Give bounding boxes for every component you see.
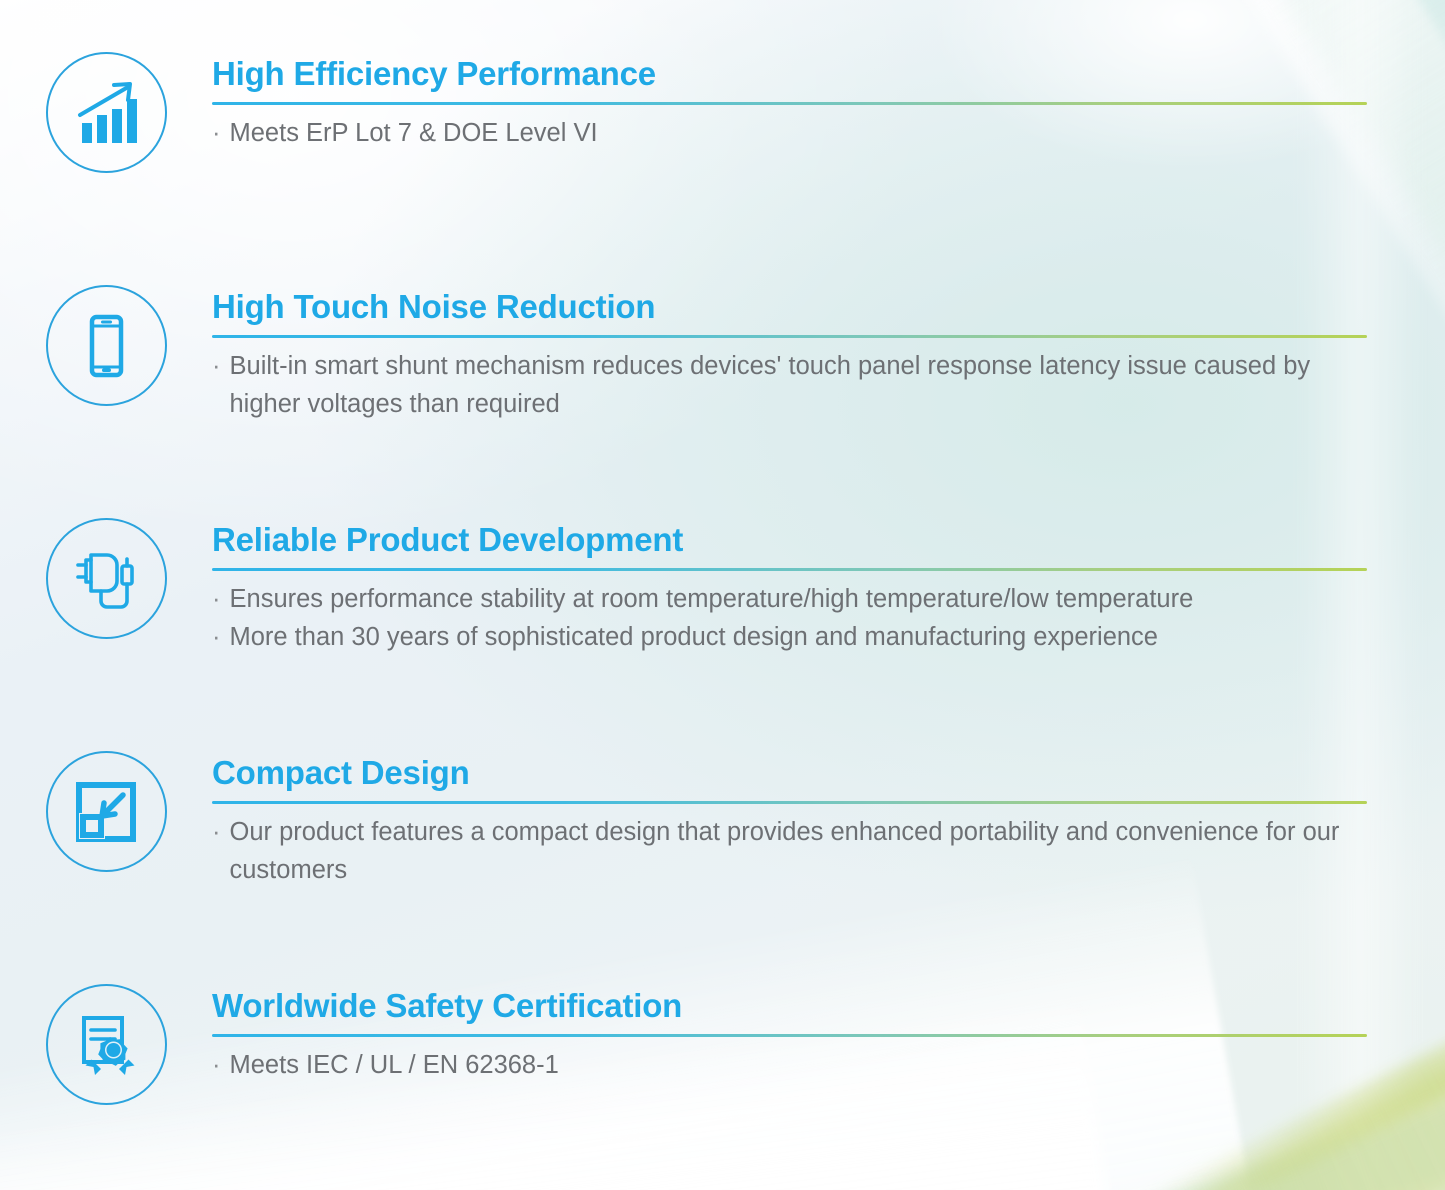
feature-bullet: · Our product features a compact design … [212,814,1367,889]
feature-bullet: · Built-in smart shunt mechanism reduces… [212,348,1367,423]
feature-divider [212,568,1367,571]
feature-title: High Efficiency Performance [212,56,1367,93]
feature-text-container: Worldwide Safety Certification · Meets I… [212,982,1445,1085]
bullet-text: Built-in smart shunt mechanism reduces d… [230,348,1368,423]
feature-title: Worldwide Safety Certification [212,988,1367,1025]
power-adapter-icon [68,541,144,617]
certificate-award-icon [70,1009,142,1081]
bullet-text: More than 30 years of sophisticated prod… [230,619,1368,657]
bullet-text: Our product features a compact design th… [230,814,1368,889]
feature-title: Reliable Product Development [212,522,1367,559]
feature-row: Compact Design · Our product features a … [0,749,1445,889]
icon-circle [46,518,167,639]
feature-divider [212,335,1367,338]
bullet-marker: · [212,115,221,153]
feature-icon-container [0,50,212,173]
bullet-text: Ensures performance stability at room te… [230,581,1368,619]
feature-row: Worldwide Safety Certification · Meets I… [0,982,1445,1105]
feature-divider [212,1034,1367,1037]
feature-text-container: Reliable Product Development · Ensures p… [212,516,1445,656]
feature-title: High Touch Noise Reduction [212,289,1367,326]
feature-bullet: · More than 30 years of sophisticated pr… [212,619,1367,657]
feature-text-container: High Touch Noise Reduction · Built-in sm… [212,283,1445,423]
feature-bullet: · Meets IEC / UL / EN 62368-1 [212,1047,1367,1085]
feature-bullet: · Meets ErP Lot 7 & DOE Level VI [212,115,1367,153]
bullet-marker: · [212,619,221,657]
icon-circle [46,751,167,872]
feature-row: High Touch Noise Reduction · Built-in sm… [0,283,1445,423]
feature-bullet: · Ensures performance stability at room … [212,581,1367,619]
bullet-marker: · [212,581,221,619]
icon-circle [46,285,167,406]
feature-icon-container [0,982,212,1105]
feature-text-container: High Efficiency Performance · Meets ErP … [212,50,1445,153]
feature-icon-container [0,516,212,639]
compact-resize-icon [71,777,141,847]
bullet-marker: · [212,814,221,852]
bullet-marker: · [212,348,221,386]
smartphone-icon [70,310,142,382]
feature-divider [212,801,1367,804]
bar-chart-growth-icon [70,77,142,149]
feature-row: Reliable Product Development · Ensures p… [0,516,1445,656]
feature-row: High Efficiency Performance · Meets ErP … [0,50,1445,173]
icon-circle [46,52,167,173]
bullet-text: Meets ErP Lot 7 & DOE Level VI [230,115,1368,153]
feature-icon-container [0,749,212,872]
bullet-text: Meets IEC / UL / EN 62368-1 [230,1047,1368,1085]
icon-circle [46,984,167,1105]
feature-text-container: Compact Design · Our product features a … [212,749,1445,889]
feature-divider [212,102,1367,105]
feature-highlights-page: High Efficiency Performance · Meets ErP … [0,0,1445,1190]
feature-title: Compact Design [212,755,1367,792]
bullet-marker: · [212,1047,221,1085]
feature-icon-container [0,283,212,406]
